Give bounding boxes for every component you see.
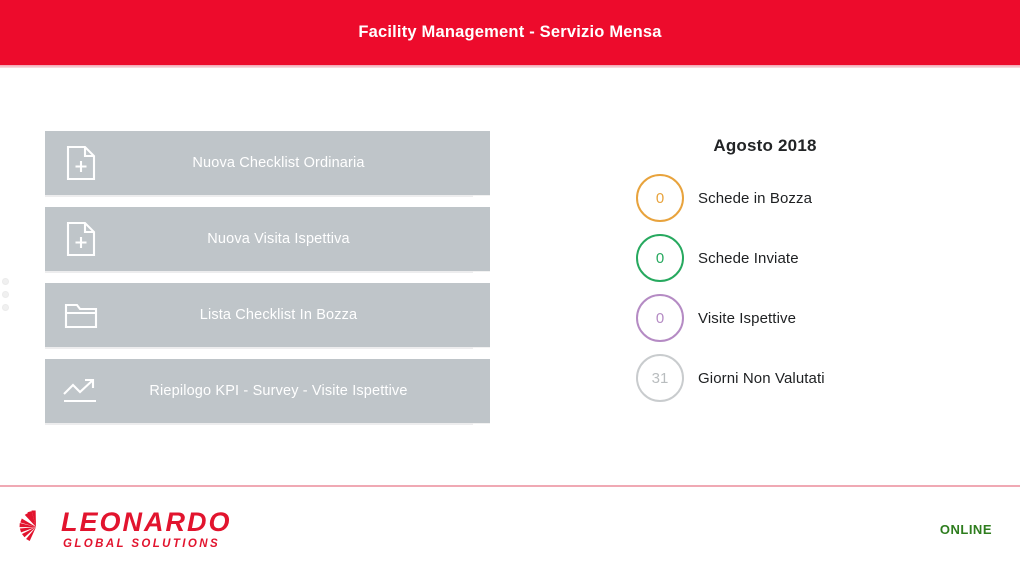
action-button-label: Lista Checklist In Bozza (117, 307, 490, 323)
action-button-riepilogo-kpi[interactable]: Riepilogo KPI - Survey - Visite Ispettiv… (45, 359, 490, 423)
stat-value: 0 (656, 190, 664, 207)
stat-label: Giorni Non Valutati (698, 370, 825, 387)
status-badge: 0 (636, 174, 684, 222)
panel-drag-handle[interactable] (2, 278, 9, 311)
stat-row-schede-inviate[interactable]: 0 Schede Inviate (636, 234, 966, 282)
stat-row-visite-ispettive[interactable]: 0 Visite Ispettive (636, 294, 966, 342)
app-header: Facility Management - Servizio Mensa (0, 0, 1020, 65)
trend-chart-icon (45, 359, 117, 423)
stat-value: 31 (652, 370, 669, 387)
stat-label: Visite Ispettive (698, 310, 796, 327)
action-button-nuova-visita-ispettiva[interactable]: Nuova Visita Ispettiva (45, 207, 490, 271)
stat-label: Schede Inviate (698, 250, 799, 267)
connection-status: ONLINE (940, 522, 992, 537)
action-button-lista-checklist-in-bozza[interactable]: Lista Checklist In Bozza (45, 283, 490, 347)
action-button-label: Nuova Checklist Ordinaria (117, 155, 490, 171)
logo-text: LEONARDO GLOBAL SOLUTIONS (61, 509, 232, 551)
stats-panel: Agosto 2018 0 Schede in Bozza 0 Schede I… (636, 136, 966, 402)
action-button-list: Nuova Checklist Ordinaria Nuova Visita I… (45, 131, 490, 423)
drag-dot-icon (2, 291, 9, 298)
action-button-label: Nuova Visita Ispettiva (117, 231, 490, 247)
leonardo-logo: LEONARDO GLOBAL SOLUTIONS (18, 509, 232, 551)
page-title: Facility Management - Servizio Mensa (358, 23, 661, 42)
starburst-icon (18, 509, 54, 550)
stat-row-schede-in-bozza[interactable]: 0 Schede in Bozza (636, 174, 966, 222)
stat-value: 0 (656, 250, 664, 267)
document-add-icon (45, 131, 117, 195)
logo-name: LEONARDO (61, 509, 232, 536)
status-badge: 0 (636, 234, 684, 282)
status-badge: 31 (636, 354, 684, 402)
drag-dot-icon (2, 304, 9, 311)
stat-value: 0 (656, 310, 664, 327)
folder-icon (45, 283, 117, 347)
action-button-nuova-checklist-ordinaria[interactable]: Nuova Checklist Ordinaria (45, 131, 490, 195)
stat-label: Schede in Bozza (698, 190, 812, 207)
stats-month-title: Agosto 2018 (658, 136, 872, 156)
logo-subtitle: GLOBAL SOLUTIONS (63, 539, 232, 551)
stat-row-giorni-non-valutati[interactable]: 31 Giorni Non Valutati (636, 354, 966, 402)
status-badge: 0 (636, 294, 684, 342)
app-footer: LEONARDO GLOBAL SOLUTIONS ONLINE (0, 487, 1020, 572)
header-underline (0, 65, 1020, 68)
action-button-label: Riepilogo KPI - Survey - Visite Ispettiv… (117, 383, 490, 399)
drag-dot-icon (2, 278, 9, 285)
stats-list: 0 Schede in Bozza 0 Schede Inviate 0 Vis… (636, 174, 966, 402)
app-root: Facility Management - Servizio Mensa Nuo… (0, 0, 1020, 572)
document-add-icon (45, 207, 117, 271)
